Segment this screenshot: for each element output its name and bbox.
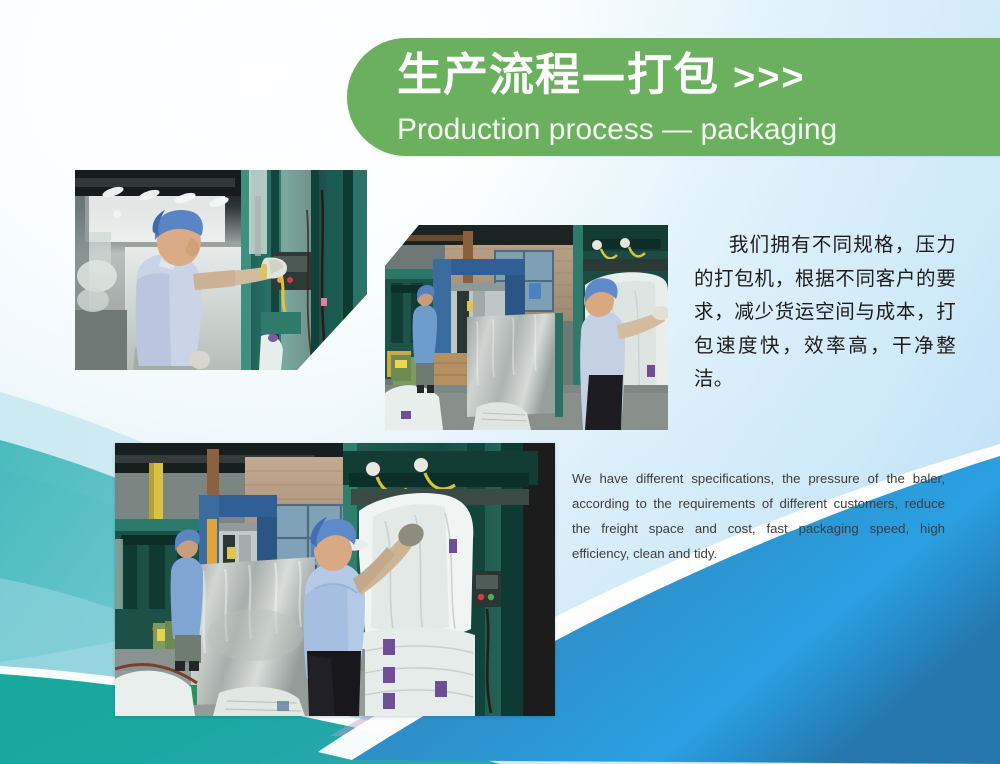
- paragraph-cn-text: 我们拥有不同规格，压力的打包机，根据不同客户的要求，减少货运空间与成本，打包速度…: [694, 233, 956, 390]
- chevron-right-triple-icon: >>>: [733, 51, 806, 105]
- description-paragraph-cn: 我们拥有不同规格，压力的打包机，根据不同客户的要求，减少货运空间与成本，打包速度…: [694, 228, 956, 396]
- photo-baler-pressing-white-woven-bags: [385, 225, 668, 430]
- photo-3-artwork: [115, 443, 555, 716]
- photo-worker-loading-bale-into-press: [115, 443, 555, 716]
- page-title-cn: 生产流程—打包: [397, 46, 719, 104]
- description-paragraph-en: We have different specifications, the pr…: [572, 466, 945, 566]
- photo-1-artwork: [75, 170, 367, 370]
- section-title-banner: 生产流程—打包 >>> Production process — packagi…: [347, 38, 1000, 156]
- banner-title-row: 生产流程—打包 >>>: [397, 46, 1000, 108]
- photo-worker-operating-baler-control-panel: [75, 170, 367, 370]
- poster-page: 生产流程—打包 >>> Production process — packagi…: [0, 0, 1000, 764]
- photo-2-artwork: [385, 225, 668, 430]
- page-title-en: Production process — packaging: [397, 110, 1000, 150]
